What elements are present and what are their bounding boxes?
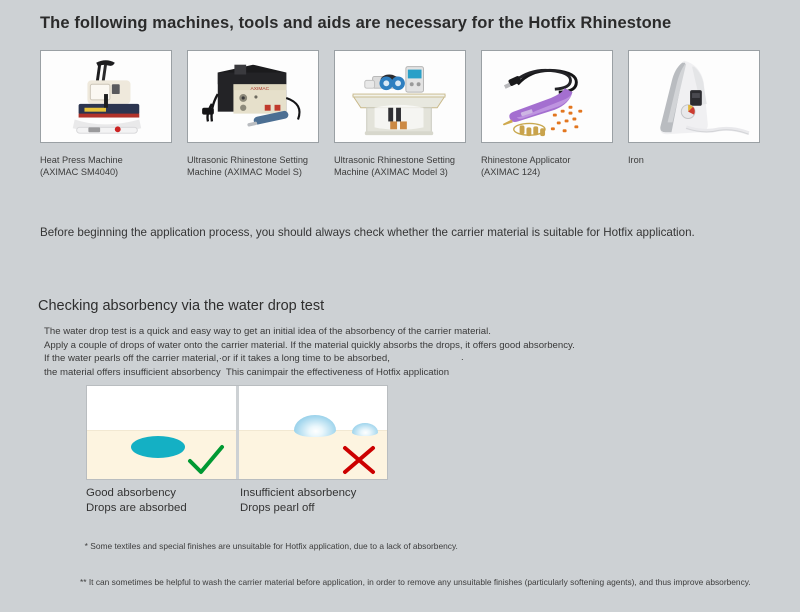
diagram-caption-insufficient-absorbency: Insufficient absorbency Drops pearl off — [240, 486, 356, 515]
description-line-1: The water drop test is a quick and easy … — [44, 325, 744, 339]
intro-paragraph: Before beginning the application process… — [40, 226, 770, 239]
caption-line-1: Insufficient absorbency — [240, 486, 356, 501]
caption-line-1: Iron — [628, 154, 770, 166]
page-title: The following machines, tools and aids a… — [40, 14, 760, 33]
cross-icon — [341, 444, 377, 476]
caption-line-1: Rhinestone Applicator — [481, 154, 623, 166]
diagram-caption-good-absorbency: Good absorbency Drops are absorbed — [86, 486, 187, 515]
caption-line-1: Ultrasonic Rhinestone Setting — [187, 154, 329, 166]
product-image-iron[interactable] — [628, 50, 760, 143]
product-image-ultrasonic-setting-machine-model-s[interactable]: AXIMAC — [187, 50, 319, 143]
ultrasonic-machine-model-s-illustration: AXIMAC — [188, 51, 318, 142]
product-image-rhinestone-applicator[interactable] — [481, 50, 613, 143]
caption-line-2: Drops are absorbed — [86, 501, 187, 516]
caption-line-1: Ultrasonic Rhinestone Setting — [334, 154, 476, 166]
description-line-3: If the water pearls off the carrier mate… — [44, 352, 744, 366]
water-drop-test-diagram — [86, 385, 388, 480]
product-image-heat-press-machine[interactable] — [40, 50, 172, 143]
rhinestone-applicator-illustration — [482, 51, 612, 142]
caption-line-1: Heat Press Machine — [40, 154, 182, 166]
absorbed-water-drop — [131, 436, 185, 458]
caption-line-1: Good absorbency — [86, 486, 187, 501]
insufficient-absorbency-panel — [239, 386, 388, 479]
iron-illustration — [629, 51, 759, 142]
slide-page: The following machines, tools and aids a… — [0, 0, 800, 569]
product-image-ultrasonic-setting-machine-model-3[interactable] — [334, 50, 466, 143]
caption-line-2: (AXIMAC 124) — [481, 166, 623, 178]
caption-line-2: Machine (AXIMAC Model S) — [187, 166, 329, 178]
description-line-2: Apply a couple of drops of water onto th… — [44, 339, 744, 353]
section-title-water-drop-test: Checking absorbency via the water drop t… — [38, 298, 324, 314]
caption-line-2: (AXIMAC SM4040) — [40, 166, 182, 178]
footnote-1: * Some textiles and special finishes are… — [80, 540, 780, 552]
check-icon — [187, 444, 225, 476]
caption-line-2: Drops pearl off — [240, 501, 356, 516]
product-caption-rhinestone-applicator: Rhinestone Applicator (AXIMAC 124) — [481, 154, 623, 179]
product-caption-iron: Iron — [628, 154, 770, 166]
pearled-water-drop-small — [352, 423, 378, 436]
svg-text:AXIMAC: AXIMAC — [250, 86, 269, 92]
heat-press-machine-illustration — [41, 51, 171, 142]
footnote-2: ** It can sometimes be helpful to wash t… — [80, 576, 780, 588]
product-caption-ultrasonic-setting-machine-model-3: Ultrasonic Rhinestone Setting Machine (A… — [334, 154, 476, 179]
good-absorbency-panel — [87, 386, 236, 479]
pearled-water-drop-large — [294, 415, 336, 437]
caption-line-2: Machine (AXIMAC Model 3) — [334, 166, 476, 178]
product-caption-heat-press-machine: Heat Press Machine (AXIMAC SM4040) — [40, 154, 182, 179]
footnotes: * Some textiles and special finishes are… — [80, 516, 780, 612]
description-line-4: the material offers insufficient absorbe… — [44, 366, 744, 380]
product-strip: Heat Press Machine (AXIMAC SM4040) AXIMA… — [40, 50, 762, 190]
ultrasonic-machine-model-3-illustration — [335, 51, 465, 142]
stray-punctuation-mark: . — [461, 352, 464, 363]
water-drop-test-description: The water drop test is a quick and easy … — [44, 325, 744, 379]
product-caption-ultrasonic-setting-machine-model-s: Ultrasonic Rhinestone Setting Machine (A… — [187, 154, 329, 179]
